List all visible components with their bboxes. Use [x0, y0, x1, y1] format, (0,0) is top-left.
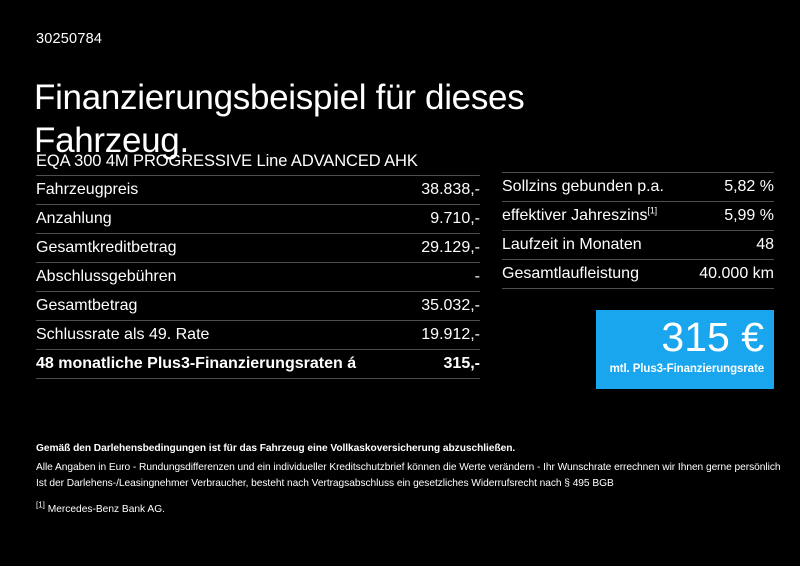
finance-table-right: Sollzins gebunden p.a.5,82 %effektiver J…	[502, 172, 774, 289]
footnote-marker: [1]	[36, 500, 45, 509]
footer-line-withdrawal: Ist der Darlehens-/Leasingnehmer Verbrau…	[36, 476, 776, 493]
right-column: Sollzins gebunden p.a.5,82 %effektiver J…	[502, 172, 774, 289]
footer-line-insurance: Gemäß den Darlehensbedingungen ist für d…	[36, 441, 776, 460]
table-row: Sollzins gebunden p.a.5,82 %	[502, 173, 774, 202]
row-label: Gesamtkreditbetrag	[36, 234, 421, 263]
row-label: Gesamtbetrag	[36, 292, 421, 321]
finance-table-left-body: Fahrzeugpreis38.838,-Anzahlung9.710,-Ges…	[36, 176, 480, 379]
table-row: effektiver Jahreszins[1]5,99 %	[502, 202, 774, 231]
row-label: Fahrzeugpreis	[36, 176, 421, 205]
row-label-text: Gesamtlaufleistung	[502, 265, 639, 282]
row-value: 9.710,-	[421, 205, 480, 234]
vehicle-name: EQA 300 4M PROGRESSIVE Line ADVANCED AHK	[36, 150, 480, 175]
table-row: Schlussrate als 49. Rate19.912,-	[36, 321, 480, 350]
footnote-marker: [1]	[648, 206, 657, 216]
monthly-rate-amount: 315 €	[606, 312, 764, 362]
footer-footnote: [1] Mercedes-Benz Bank AG.	[36, 502, 776, 519]
table-row: Abschlussgebühren-	[36, 263, 480, 292]
table-row: Gesamtkreditbetrag29.129,-	[36, 234, 480, 263]
row-label: effektiver Jahreszins[1]	[502, 202, 699, 231]
row-label-text: Sollzins gebunden p.a.	[502, 178, 664, 195]
row-label: Laufzeit in Monaten	[502, 231, 699, 260]
table-row: Laufzeit in Monaten48	[502, 231, 774, 260]
row-label: 48 monatliche Plus3-Finanzierungsraten á	[36, 350, 421, 379]
row-value: 40.000 km	[699, 260, 774, 289]
row-label-text: Laufzeit in Monaten	[502, 236, 642, 253]
row-label: Sollzins gebunden p.a.	[502, 173, 699, 202]
row-value: 38.838,-	[421, 176, 480, 205]
footer-line-rounding: Alle Angaben in Euro - Rundungsdifferenz…	[36, 460, 776, 477]
row-value: 5,82 %	[699, 173, 774, 202]
row-value: 29.129,-	[421, 234, 480, 263]
row-value: -	[421, 263, 480, 292]
monthly-rate-badge: 315 € mtl. Plus3-Finanzierungsrate	[596, 310, 774, 389]
table-row: Fahrzeugpreis38.838,-	[36, 176, 480, 205]
row-label: Anzahlung	[36, 205, 421, 234]
row-label: Abschlussgebühren	[36, 263, 421, 292]
table-row: Gesamtlaufleistung40.000 km	[502, 260, 774, 289]
table-row: Gesamtbetrag35.032,-	[36, 292, 480, 321]
left-column: EQA 300 4M PROGRESSIVE Line ADVANCED AHK…	[36, 150, 480, 379]
monthly-rate-caption: mtl. Plus3-Finanzierungsrate	[606, 362, 764, 376]
footer-disclaimer: Gemäß den Darlehensbedingungen ist für d…	[36, 441, 776, 518]
row-value: 5,99 %	[699, 202, 774, 231]
table-row: Anzahlung9.710,-	[36, 205, 480, 234]
finance-example-page: 30250784 Finanzierungsbeispiel für diese…	[0, 0, 800, 566]
finance-table-right-body: Sollzins gebunden p.a.5,82 %effektiver J…	[502, 173, 774, 289]
finance-table-left: Fahrzeugpreis38.838,-Anzahlung9.710,-Ges…	[36, 175, 480, 379]
table-row: 48 monatliche Plus3-Finanzierungsraten á…	[36, 350, 480, 379]
row-label: Gesamtlaufleistung	[502, 260, 699, 289]
row-label: Schlussrate als 49. Rate	[36, 321, 421, 350]
row-value: 19.912,-	[421, 321, 480, 350]
row-label-text: effektiver Jahreszins	[502, 207, 648, 224]
row-value: 48	[699, 231, 774, 260]
reference-id: 30250784	[36, 32, 102, 47]
row-value: 35.032,-	[421, 292, 480, 321]
footnote-text: Mercedes-Benz Bank AG.	[48, 504, 165, 515]
row-value: 315,-	[421, 350, 480, 379]
